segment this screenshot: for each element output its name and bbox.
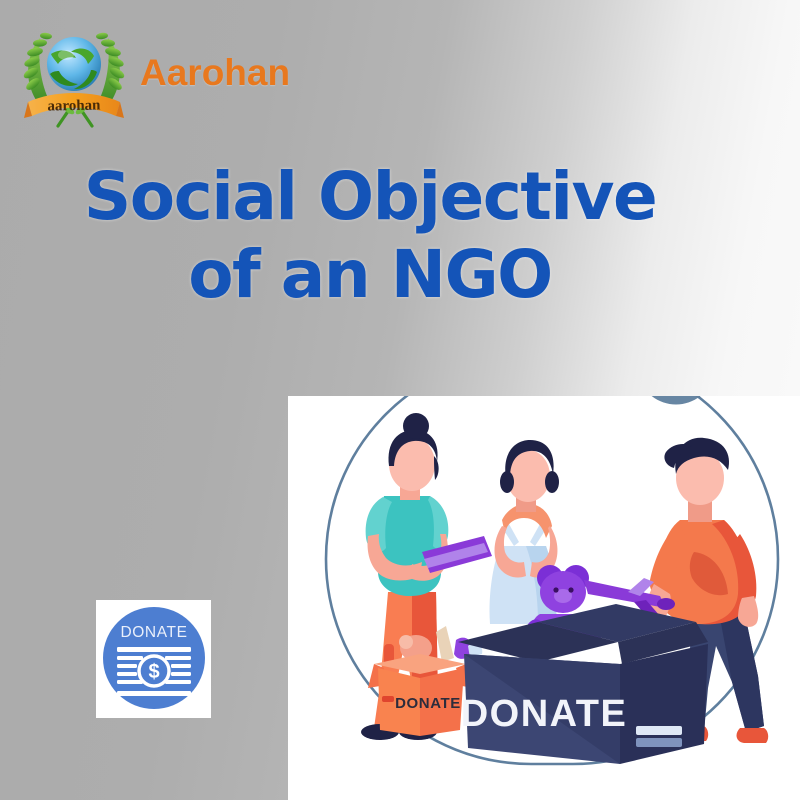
donate-box-large: DONATE	[458, 604, 708, 764]
decorative-arc-chip	[644, 396, 708, 405]
donate-box-small-label: DONATE	[395, 695, 461, 712]
donate-box-large-label: DONATE	[461, 693, 628, 735]
aarohan-logo-icon: aarohan	[14, 14, 134, 134]
people-donating-toys-illustration: DONATE DONATE	[288, 396, 800, 800]
brand-name: Aarohan	[140, 54, 290, 91]
poster-canvas: aarohan Aarohan Social Objective of an N…	[0, 0, 800, 800]
dollar-symbol: $	[148, 661, 159, 683]
brand-row: aarohan Aarohan	[14, 14, 290, 134]
donate-badge[interactable]: DONATE $	[96, 600, 211, 718]
logo-banner-text: aarohan	[47, 98, 101, 115]
page-title-line-1: Social Objective	[0, 158, 740, 236]
donate-badge-label: DONATE	[103, 624, 205, 642]
donate-money-circle-icon: DONATE $	[103, 607, 205, 709]
illustration-card: DONATE DONATE	[288, 396, 800, 800]
page-title: Social Objective of an NGO	[0, 158, 740, 314]
dollar-bill-icon: $	[117, 647, 191, 697]
page-title-line-2: of an NGO	[0, 236, 740, 314]
